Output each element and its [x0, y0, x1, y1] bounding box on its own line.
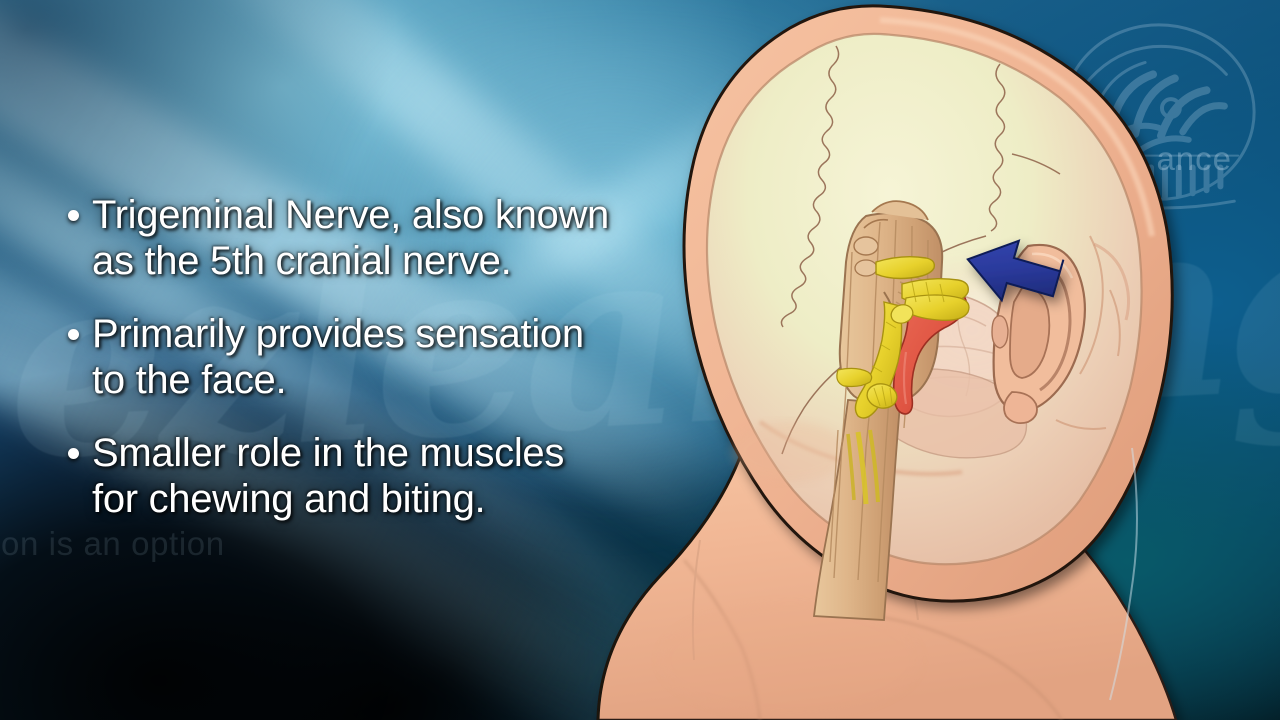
- bullet-line: to the face.: [92, 357, 584, 403]
- bullet-text-3: Smaller role in the muscles for chewing …: [92, 430, 564, 523]
- bullet-text-2: Primarily provides sensation to the face…: [92, 311, 584, 404]
- bullet-text-1: Trigeminal Nerve, also known as the 5th …: [92, 192, 609, 285]
- video-frame: ezlearning ...tion is an option: [0, 0, 1280, 720]
- bullet-line: as the 5th cranial nerve.: [92, 238, 609, 284]
- bullet-line: for chewing and biting.: [92, 476, 564, 522]
- bullet-line: Smaller role in the muscles: [92, 430, 564, 476]
- bullet-line: Trigeminal Nerve, also known: [92, 192, 609, 238]
- bullet-dot-icon: [68, 329, 79, 340]
- bullet-dot-icon: [68, 210, 79, 221]
- bullet-list: Trigeminal Nerve, also known as the 5th …: [68, 192, 658, 548]
- bullet-line: Primarily provides sensation: [92, 311, 584, 357]
- brain-circle-logo-icon: [1050, 16, 1268, 216]
- list-item: Primarily provides sensation to the face…: [68, 311, 658, 404]
- bullet-dot-icon: [68, 448, 79, 459]
- list-item: Trigeminal Nerve, also known as the 5th …: [68, 192, 658, 285]
- list-item: Smaller role in the muscles for chewing …: [68, 430, 658, 523]
- brand-logo-text: ance: [1156, 140, 1232, 178]
